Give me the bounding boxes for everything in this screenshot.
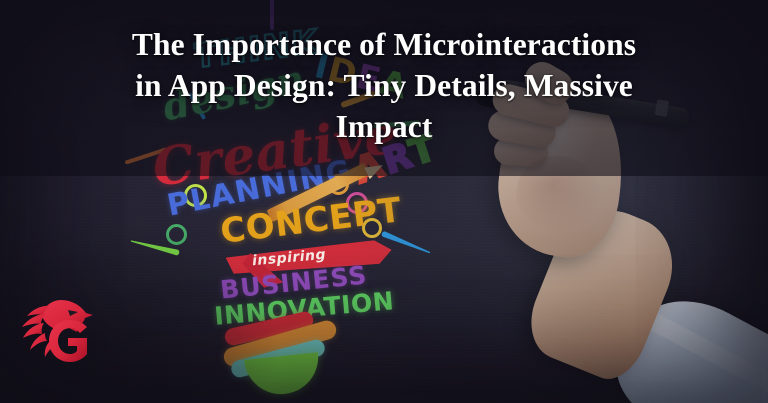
- page-title-line-3: Impact: [50, 106, 718, 147]
- page-title-line-1: The Importance of Microinteractions: [50, 24, 718, 65]
- page-title: The Importance of Microinteractions in A…: [50, 24, 718, 147]
- featured-image-banner: THINK design IDEA Creative PLANNING ART …: [0, 0, 768, 403]
- page-title-line-2: in App Design: Tiny Details, Massive: [50, 65, 718, 106]
- site-logo[interactable]: [20, 292, 94, 364]
